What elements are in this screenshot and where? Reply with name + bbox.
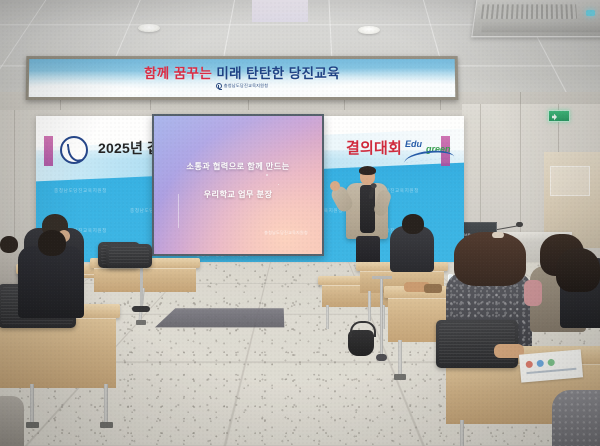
education-office-emblem-icon <box>60 136 88 164</box>
ceiling-skylight-panel <box>252 0 308 22</box>
wall-banner: 함께 꿈꾸는 미래 탄탄한 당진교육 충청남도당진교육지원청 <box>26 56 459 100</box>
desk-foot <box>136 320 146 325</box>
attendee-foreground-left-body <box>0 396 24 446</box>
attendee-scarf <box>524 280 542 306</box>
stand-crossbar <box>372 276 392 279</box>
backdrop-title-right: 결의대회 <box>346 137 402 158</box>
attendee-left-edge-head <box>0 236 18 253</box>
backdrop-watermark: 충청남도당진교육지원청 <box>54 188 107 194</box>
chair-post <box>140 268 143 308</box>
front-left-desk-front <box>0 318 116 388</box>
stand-foot <box>376 354 387 361</box>
attendee-back-right-head <box>402 214 424 234</box>
desk-leg <box>30 384 34 426</box>
recessed-light-icon <box>138 24 160 32</box>
education-office-emblem-icon <box>216 83 222 89</box>
attendee-corner-right-head <box>556 248 600 292</box>
desk-leg <box>460 420 464 446</box>
floor-mat <box>155 308 284 327</box>
attendee-mid-right-hair <box>454 232 526 286</box>
handout-paper <box>519 349 583 382</box>
desk-leg <box>398 340 402 378</box>
hair-clip-icon <box>492 232 504 238</box>
handbag-icon <box>348 330 374 356</box>
projection-screen: 소통과 협력으로 함께 만드는 우리학교 업무 분장 충청남도당진교육지원청 <box>154 116 322 254</box>
status-led-icon <box>586 10 595 16</box>
exit-sign-icon <box>548 110 570 122</box>
backdrop-title-left: 2025년 갑 <box>98 138 160 158</box>
wall-banner-subtitle-row: 충청남도당진교육지원청 <box>216 83 269 89</box>
attendee-front-left-body <box>18 246 84 318</box>
edu-green-logo-icon: Edu green <box>404 138 456 162</box>
wallet-icon <box>424 284 442 293</box>
slide-credit-text: 충청남도당진교육지원청 <box>264 230 308 236</box>
wall-banner-text-red: 함께 꿈꾸는 <box>144 66 212 81</box>
projection-screen-frame: 소통과 협력으로 함께 만드는 우리학교 업무 분장 충청남도당진교육지원청 <box>152 114 324 256</box>
presenter-hair <box>359 166 376 175</box>
wall-banner-text: 함께 꿈꾸는 미래 탄탄한 당진교육 <box>144 67 340 80</box>
presenter-raised-hand <box>330 181 340 191</box>
desk-front <box>94 268 196 292</box>
recessed-light-icon <box>358 26 380 34</box>
slide-heading-line-2: 우리학교 업무 분장 <box>154 188 322 200</box>
table-leg <box>326 305 329 329</box>
desk-leg <box>368 291 371 321</box>
desk-foot <box>26 422 39 428</box>
wall-banner-text-blue: 미래 탄탄한 당진교육 <box>216 66 340 81</box>
chair-back <box>106 244 152 268</box>
stand-pole <box>380 278 383 358</box>
desk-foot <box>100 422 113 428</box>
chair-base <box>132 306 150 312</box>
slide-heading-line-1: 소통과 협력으로 함께 만드는 <box>154 160 322 172</box>
attendee-foreground-right-body <box>552 390 600 446</box>
desk-leg <box>104 384 108 426</box>
attendee-front-left-head <box>38 230 66 256</box>
edu-green-logo-edu: Edu <box>405 139 422 149</box>
conference-room-photo: AMP 함께 꿈꾸는 미래 탄탄한 당진교육 충청남도당진교육지원청 2025년… <box>0 0 600 446</box>
air-conditioner-icon <box>471 0 600 37</box>
wall-banner-subtitle: 충청남도당진교육지원청 <box>224 83 269 89</box>
desk-foot <box>394 374 406 380</box>
wall-banner-inner: 함께 꿈꾸는 미래 탄탄한 당진교육 충청남도당진교육지원청 <box>29 59 456 97</box>
